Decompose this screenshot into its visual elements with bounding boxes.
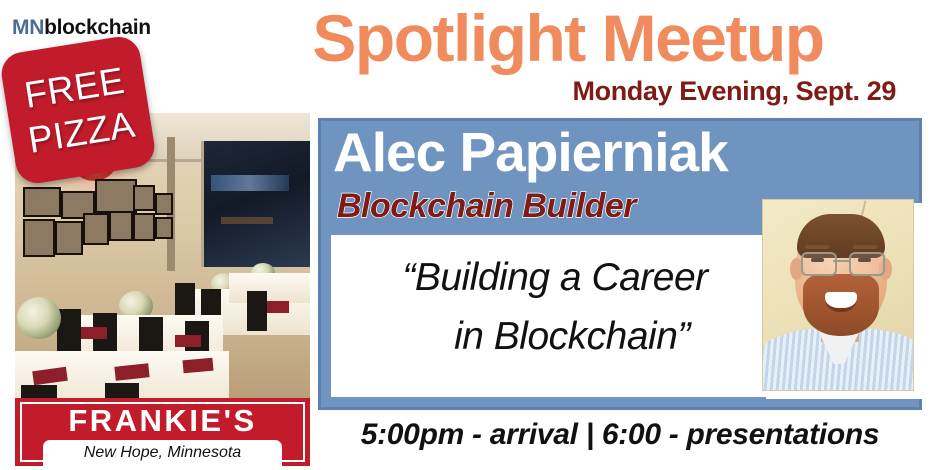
wall-art xyxy=(133,213,155,241)
speaker-name: Alec Papierniak xyxy=(333,125,913,180)
wall-art xyxy=(83,213,109,245)
talk-title: “Building a Career in Blockchain” xyxy=(331,249,779,366)
dining-chair xyxy=(247,291,267,331)
venue-city-plate: New Hope, Minnesota xyxy=(43,440,282,466)
wall-art xyxy=(23,219,55,257)
wall-art xyxy=(109,211,133,241)
brand-logo-suffix: blockchain xyxy=(44,16,151,39)
brand-logo-prefix: MN xyxy=(12,16,44,39)
table-napkin xyxy=(175,335,201,347)
table-napkin xyxy=(81,327,107,339)
venue-city: New Hope, Minnesota xyxy=(84,444,241,462)
wall-art xyxy=(23,187,61,217)
headshot-eyebrow-right xyxy=(853,245,877,249)
wall-art xyxy=(155,193,173,215)
table-napkin xyxy=(182,358,213,374)
wall-art xyxy=(155,217,173,239)
headshot-eyebrow-left xyxy=(805,245,829,249)
talk-title-line1: “Building a Career xyxy=(402,256,707,299)
talk-title-line2: in Blockchain” xyxy=(331,308,779,367)
table-napkin xyxy=(267,301,289,313)
table-centerpiece xyxy=(17,297,61,339)
free-pizza-badge: FREE PIZZA xyxy=(0,34,157,186)
event-poster: MNblockchain Spotlight Meetup Monday Eve… xyxy=(0,0,940,470)
wall-art xyxy=(133,185,155,211)
venue-window-reflection xyxy=(211,175,289,191)
venue-logo: FRANKIE'S New Hope, Minnesota xyxy=(15,398,310,466)
speaker-headshot xyxy=(762,199,914,391)
schedule-text: 5:00pm - arrival | 6:00 - presentations xyxy=(318,418,922,452)
page-title: Spotlight Meetup xyxy=(196,6,940,71)
dining-chair xyxy=(175,283,195,319)
speaker-role: Blockchain Builder xyxy=(337,187,636,226)
headshot-glasses-bridge xyxy=(833,260,849,262)
brand-logo: MNblockchain xyxy=(12,16,151,40)
venue-name: FRANKIE'S xyxy=(15,403,310,439)
wall-art xyxy=(95,179,137,213)
headshot-glasses-right-lens xyxy=(849,252,885,276)
dining-table xyxy=(229,273,310,303)
wall-art xyxy=(55,221,83,255)
venue-window-reflection-2 xyxy=(221,217,273,224)
venue-window xyxy=(201,141,310,267)
headshot-glasses-left-lens xyxy=(801,252,837,276)
talk-title-box: “Building a Career in Blockchain” xyxy=(331,235,779,397)
event-date: Monday Evening, Sept. 29 xyxy=(196,78,896,105)
